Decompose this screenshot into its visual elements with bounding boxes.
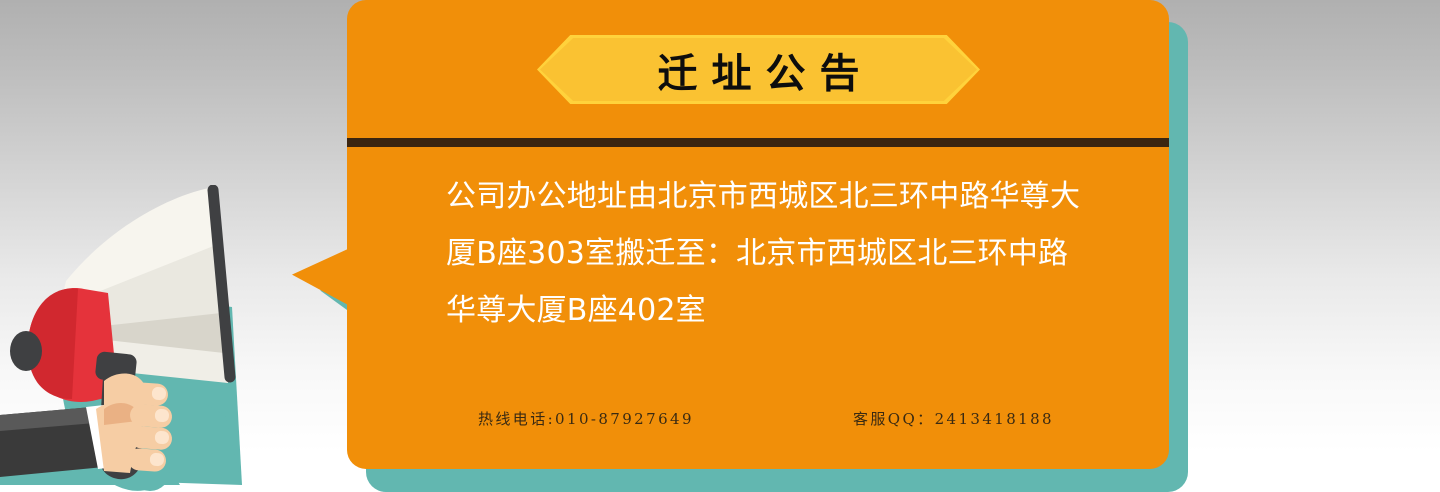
qq-text: 客服QQ：2413418188: [853, 408, 1096, 429]
divider: [347, 138, 1169, 147]
megaphone-cap: [10, 331, 42, 371]
page-title: 迁址公告: [537, 35, 980, 104]
announcement-body: 公司办公地址由北京市西城区北三环中路华尊大厦B座303室搬迁至：北京市西城区北三…: [446, 168, 1096, 339]
contact-footer: 热线电话:010-87927649 客服QQ：2413418188: [446, 408, 1096, 429]
hotline-text: 热线电话:010-87927649: [446, 408, 694, 429]
title-ribbon: 迁址公告: [537, 35, 980, 104]
megaphone-illustration: [0, 185, 310, 492]
announcement-banner: 迁址公告 公司办公地址由北京市西城区北三环中路华尊大厦B座303室搬迁至：北京市…: [0, 0, 1440, 492]
